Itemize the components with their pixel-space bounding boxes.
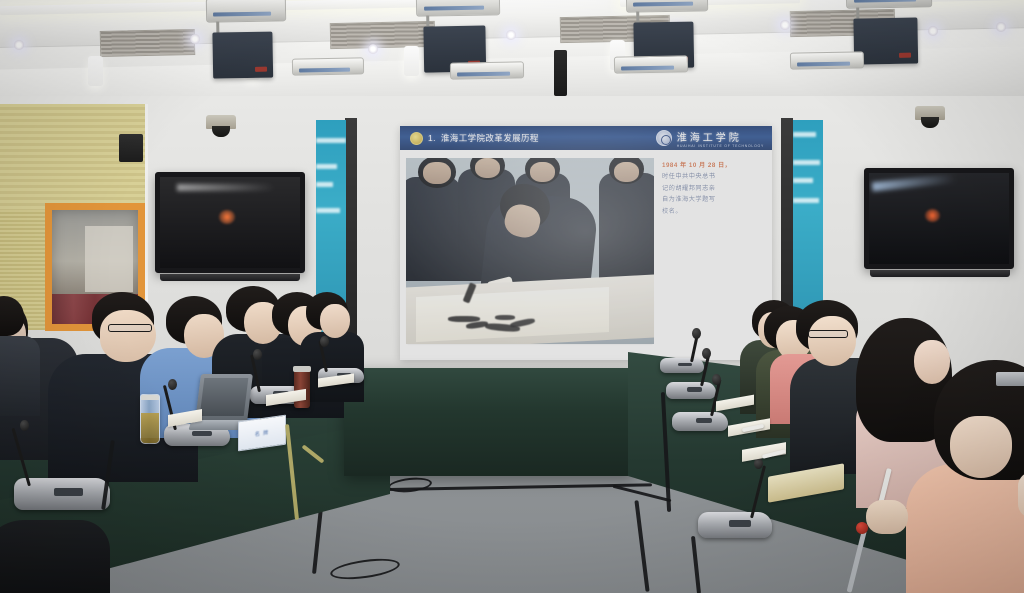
slide-body: 1984 年 10 月 28 日， 时任中共中央总书 记的胡耀邦同志亲 自为淮海… bbox=[400, 150, 772, 360]
caption-line: 1984 年 10 月 28 日， bbox=[662, 160, 766, 171]
presentation-slide: 1. 淮海工学院改革发展历程 淮海工学院 HUAIHAI INSTITUTE O… bbox=[400, 126, 772, 360]
caption-line: 时任中共中央总书 bbox=[662, 171, 766, 182]
microphone-head bbox=[692, 328, 701, 339]
hair bbox=[0, 296, 24, 336]
tea-cup bbox=[140, 394, 160, 444]
conference-microphone[interactable] bbox=[14, 478, 110, 510]
monitor-reflection bbox=[219, 210, 235, 224]
caption-line: 自为淮海大学题写 bbox=[662, 194, 766, 205]
window-paper bbox=[85, 226, 133, 292]
university-name-cn: 淮海工学院 bbox=[677, 129, 742, 144]
monitor-reflection bbox=[925, 209, 940, 222]
monitor-left-stand bbox=[160, 274, 300, 281]
conference-microphone[interactable] bbox=[672, 412, 728, 431]
dome-camera-icon bbox=[206, 115, 236, 129]
microphone-head bbox=[754, 458, 763, 469]
face bbox=[808, 316, 856, 366]
downlight bbox=[780, 20, 790, 30]
glasses-icon bbox=[808, 330, 848, 338]
microphone-head bbox=[320, 336, 329, 347]
wall-speaker bbox=[119, 134, 143, 162]
ceiling-projector bbox=[846, 0, 932, 9]
hanging-camera-icon bbox=[554, 50, 567, 96]
university-crest-icon bbox=[656, 130, 672, 146]
photo-figure bbox=[406, 177, 461, 281]
microphone-head bbox=[20, 420, 29, 431]
person-foreground-shoulder bbox=[0, 520, 110, 593]
face bbox=[914, 340, 950, 384]
downlight bbox=[190, 34, 200, 44]
slide-photo bbox=[406, 158, 654, 344]
face bbox=[950, 416, 1012, 478]
ceiling-projector bbox=[416, 0, 500, 17]
name-card-text: 名 牌 bbox=[255, 428, 269, 437]
slide-header: 1. 淮海工学院改革发展历程 淮海工学院 HUAIHAI INSTITUTE O… bbox=[400, 126, 772, 150]
torso bbox=[906, 464, 1024, 593]
pendant-light bbox=[88, 56, 103, 86]
conference-table-back bbox=[344, 368, 634, 476]
insulated-tumbler bbox=[294, 366, 310, 408]
gold-seal-icon bbox=[410, 132, 423, 145]
microphone-head bbox=[168, 379, 177, 390]
hand bbox=[866, 500, 908, 534]
ceiling-projector bbox=[626, 0, 708, 13]
ceiling-projector bbox=[790, 51, 864, 69]
torso bbox=[0, 336, 40, 416]
ac-vent bbox=[100, 29, 196, 57]
downlight bbox=[14, 40, 24, 50]
slide-header-number: 1. bbox=[428, 133, 436, 143]
photo-figure-face bbox=[423, 162, 450, 184]
conference-microphone[interactable] bbox=[660, 358, 704, 373]
caption-line: 记的胡耀邦同志亲 bbox=[662, 183, 766, 194]
monitor-right-stand bbox=[870, 270, 1010, 277]
conference-microphone[interactable] bbox=[666, 382, 716, 399]
caption-line: 校名。 bbox=[662, 206, 766, 217]
microphone-head bbox=[253, 349, 262, 360]
photo-figure-face bbox=[475, 158, 500, 178]
downlight bbox=[996, 22, 1006, 32]
face bbox=[320, 304, 350, 338]
laptop[interactable] bbox=[198, 374, 250, 422]
wall-monitor-right bbox=[864, 168, 1014, 269]
photo-figure bbox=[599, 173, 654, 281]
monitor-glare bbox=[872, 174, 956, 192]
photo-figure-face bbox=[530, 162, 555, 182]
wall-monitor-left bbox=[155, 172, 305, 273]
ceiling-projector bbox=[292, 57, 364, 75]
slide-header-title: 淮海工学院改革发展历程 bbox=[441, 132, 539, 144]
ceiling-projector bbox=[450, 61, 524, 79]
ceiling bbox=[0, 0, 1024, 100]
ac-vent bbox=[330, 21, 436, 49]
monitor-glare bbox=[177, 184, 275, 191]
person-left-edge bbox=[0, 296, 42, 406]
microphone-head bbox=[702, 348, 711, 359]
university-name-en: HUAIHAI INSTITUTE OF TECHNOLOGY bbox=[677, 144, 764, 148]
microphone-head bbox=[712, 374, 721, 385]
downlight bbox=[506, 30, 516, 40]
dome-camera-icon bbox=[915, 106, 945, 120]
pendant-light bbox=[404, 46, 419, 76]
projection-screen: 1. 淮海工学院改革发展历程 淮海工学院 HUAIHAI INSTITUTE O… bbox=[400, 126, 772, 360]
device-right-edge bbox=[996, 372, 1024, 386]
ceiling-projector bbox=[206, 0, 286, 23]
conference-room-photo: 1. 淮海工学院改革发展历程 淮海工学院 HUAIHAI INSTITUTE O… bbox=[0, 0, 1024, 593]
conference-microphone[interactable] bbox=[698, 512, 772, 538]
photo-figure-face bbox=[614, 162, 639, 182]
downlight bbox=[928, 26, 938, 36]
person-pink-jacket-notetaker bbox=[906, 386, 1024, 593]
downlight bbox=[368, 44, 378, 54]
ceiling-projector bbox=[614, 55, 688, 73]
handheld-microphone[interactable] bbox=[856, 522, 868, 534]
